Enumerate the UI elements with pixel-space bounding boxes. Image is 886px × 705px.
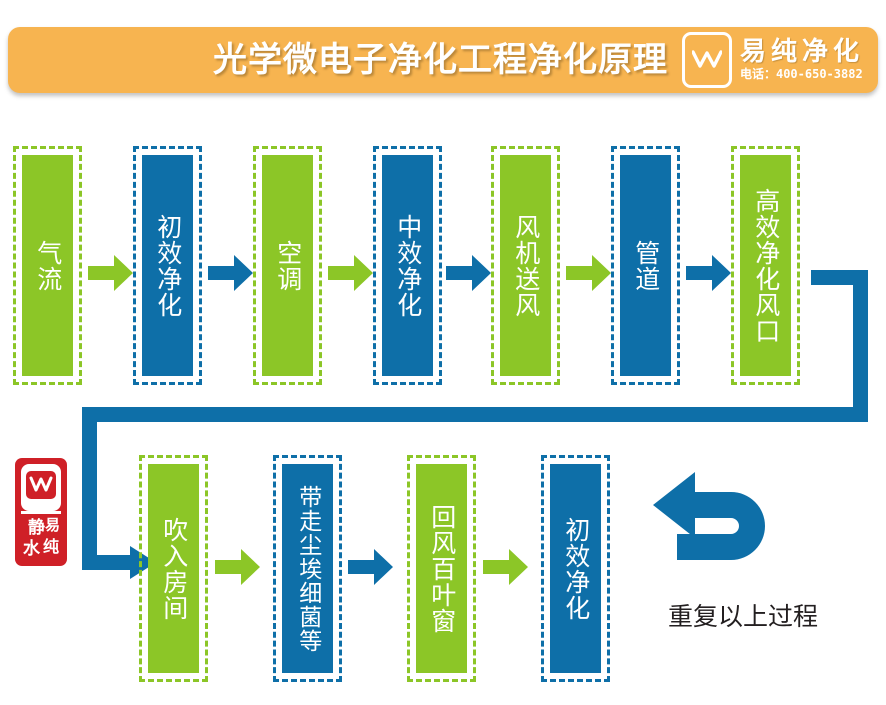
- brand-name: 易纯净化: [740, 38, 864, 65]
- company-seal-stamp: 静 易 水 纯: [14, 457, 68, 567]
- feedback-connector-right-segment: [853, 270, 868, 422]
- flow-node-kongtiao[interactable]: 空调: [253, 146, 322, 385]
- node-body: 初效净化: [142, 155, 193, 376]
- brand-phone: 电话：400-650-3882: [740, 67, 863, 81]
- flow-arrow-2: [208, 255, 253, 291]
- node-label: 回风百叶窗: [428, 504, 455, 634]
- svg-text:水: 水: [23, 538, 41, 559]
- node-body: 中效净化: [382, 155, 433, 376]
- feedback-connector-bottom-segment: [82, 407, 868, 422]
- node-body: 初效净化: [550, 464, 601, 673]
- node-label: 风机送风: [512, 214, 539, 318]
- u-turn-loop-arrow: [653, 462, 771, 580]
- node-body: 吹入房间: [148, 464, 199, 673]
- node-label: 带走尘埃细菌等: [295, 485, 319, 653]
- node-body: 风机送风: [500, 155, 551, 376]
- brand-text-block: 易纯净化 电话：400-650-3882: [740, 38, 864, 82]
- page-title: 光学微电子净化工程净化原理: [213, 43, 668, 77]
- flow-node-chuxiao-jinghua-2[interactable]: 初效净化: [541, 455, 610, 682]
- node-body: 带走尘埃细菌等: [282, 464, 333, 673]
- flow-node-fengji-songfeng[interactable]: 风机送风: [491, 146, 560, 385]
- repeat-process-caption: 重复以上过程: [668, 597, 818, 633]
- flow-node-chuiru-fangjian[interactable]: 吹入房间: [139, 455, 208, 682]
- brand-mark-icon: [682, 32, 732, 88]
- node-body: 气流: [22, 155, 73, 376]
- node-body: 空调: [262, 155, 313, 376]
- svg-text:纯: 纯: [43, 537, 59, 556]
- brand-logo: 易纯净化 电话：400-650-3882: [682, 32, 864, 88]
- node-label: 吹入房间: [160, 517, 187, 621]
- flow-arrow-3: [328, 255, 373, 291]
- flow-node-huifeng-baiyechuang[interactable]: 回风百叶窗: [407, 455, 476, 682]
- feedback-connector-left-segment: [82, 407, 97, 562]
- node-label: 初效净化: [562, 517, 589, 621]
- flow-arrow-9: [483, 549, 528, 585]
- flow-node-gaoxiao-jinghua-fengkou[interactable]: 高效净化风口: [731, 146, 800, 385]
- flow-arrow-5: [566, 255, 611, 291]
- flow-arrow-8: [348, 549, 393, 585]
- flow-node-qiliu[interactable]: 气流: [13, 146, 82, 385]
- flow-arrow-1: [88, 255, 133, 291]
- node-body: 管道: [620, 155, 671, 376]
- node-label: 高效净化风口: [752, 188, 779, 344]
- seal-icon: 静 易 水 纯: [14, 457, 68, 567]
- node-body: 高效净化风口: [740, 155, 791, 376]
- flow-node-daizou-chenai-xijun[interactable]: 带走尘埃细菌等: [273, 455, 342, 682]
- header-banner: 光学微电子净化工程净化原理 易纯净化 电话：400-650-3882: [8, 27, 878, 93]
- flow-arrow-6: [686, 255, 731, 291]
- node-body: 回风百叶窗: [416, 464, 467, 673]
- flow-node-chuxiao-jinghua-1[interactable]: 初效净化: [133, 146, 202, 385]
- svg-text:静: 静: [28, 517, 45, 538]
- flow-node-guandao[interactable]: 管道: [611, 146, 680, 385]
- node-label: 气流: [34, 240, 61, 292]
- node-label: 初效净化: [154, 214, 181, 318]
- flow-arrow-4: [446, 255, 491, 291]
- flow-node-zhongxiao-jinghua[interactable]: 中效净化: [373, 146, 442, 385]
- node-label: 中效净化: [394, 214, 421, 318]
- flow-arrow-7: [215, 549, 260, 585]
- node-label: 空调: [274, 240, 301, 292]
- diagram-canvas: 光学微电子净化工程净化原理 易纯净化 电话：400-650-3882 气流: [0, 0, 886, 705]
- w-check-icon: [692, 50, 722, 70]
- node-label: 管道: [632, 240, 659, 292]
- svg-text:易: 易: [45, 516, 60, 534]
